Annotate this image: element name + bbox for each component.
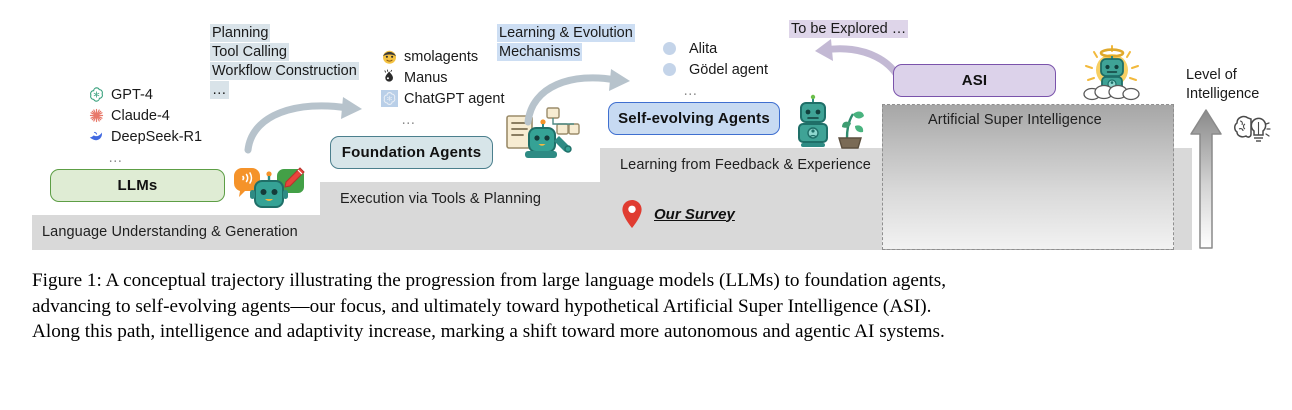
- stage-box-self-evolving-agents[interactable]: Self-evolving Agents: [608, 102, 780, 135]
- model-name: smolagents: [404, 49, 478, 65]
- band-label-llm: Language Understanding & Generation: [42, 224, 298, 240]
- figure-conceptual-trajectory: Language Understanding & Generation Exec…: [0, 0, 1292, 410]
- band-label-selfevolving: Learning from Feedback & Experience: [620, 157, 871, 173]
- capability-label: Workflow Construction: [210, 62, 359, 80]
- model-name: ChatGPT agent: [404, 91, 505, 107]
- list-item: smolagents: [381, 46, 505, 67]
- foundation-model-list: smolagents Manus: [381, 46, 505, 130]
- list-item: Claude-4: [88, 105, 202, 126]
- map-pin-icon: [622, 200, 642, 228]
- stage-box-asi[interactable]: ASI: [893, 64, 1056, 97]
- band-label-foundation: Execution via Tools & Planning: [340, 191, 541, 207]
- capability-label: Mechanisms: [497, 43, 582, 61]
- model-name: Alita: [682, 41, 717, 57]
- model-name: Gödel agent: [682, 62, 768, 78]
- robot-plant-icon: [795, 92, 865, 150]
- claude-asterisk-icon: [88, 107, 105, 124]
- ellipsis: …: [381, 112, 417, 128]
- level-label-line1: Level of: [1186, 66, 1259, 85]
- caption-line: advancing to self-evolving agents—our fo…: [32, 294, 1262, 320]
- list-item: Alita: [663, 38, 768, 59]
- caption-line: Figure 1: A conceptual trajectory illust…: [32, 268, 1262, 294]
- model-name: GPT-4: [111, 87, 153, 103]
- smolagents-emoji-icon: [381, 48, 398, 65]
- bullet-dot-icon: [663, 42, 676, 55]
- selfevolving-model-list: Alita Gödel agent …: [663, 38, 768, 101]
- llm-model-list: GPT-4 Claude-4: [88, 84, 202, 168]
- list-item: GPT-4: [88, 84, 202, 105]
- model-name: DeepSeek-R1: [111, 129, 202, 145]
- capability-label: Planning: [210, 24, 270, 42]
- list-item: DeepSeek-R1: [88, 126, 202, 147]
- band-label-asi: Artificial Super Intelligence: [928, 112, 1102, 128]
- list-item: Gödel agent: [663, 59, 768, 80]
- up-arrow-icon: [1189, 108, 1223, 250]
- openai-icon: [381, 90, 398, 107]
- figure-caption: Figure 1: A conceptual trajectory illust…: [32, 268, 1262, 345]
- caption-line: Along this path, intelligence and adapti…: [32, 319, 1262, 345]
- level-of-intelligence-label: Level of Intelligence: [1186, 66, 1259, 104]
- ellipsis: …: [88, 150, 124, 166]
- list-item: ChatGPT agent: [381, 88, 505, 109]
- ellipsis: …: [663, 83, 699, 99]
- enlightened-robot-icon: [1076, 44, 1148, 106]
- manus-ink-icon: [381, 69, 398, 86]
- list-item: Manus: [381, 67, 505, 88]
- brain-lightbulb-icon: [1232, 112, 1272, 146]
- model-name: Claude-4: [111, 108, 170, 124]
- openai-icon: [88, 86, 105, 103]
- our-survey-marker[interactable]: Our Survey: [622, 200, 735, 228]
- annot-selfevolving-capabilities: Learning & Evolution Mechanisms: [497, 24, 635, 62]
- chat-robot-icon: [232, 164, 306, 218]
- bullet-dot-icon: [663, 63, 676, 76]
- list-item: …: [663, 80, 768, 101]
- level-label-line2: Intelligence: [1186, 85, 1259, 104]
- capability-label: …: [210, 81, 229, 99]
- list-item: …: [88, 147, 202, 168]
- annot-foundation-capabilities: Planning Tool Calling Workflow Construct…: [210, 24, 359, 100]
- capability-label: Learning & Evolution: [497, 24, 635, 42]
- stage-box-llms[interactable]: LLMs: [50, 169, 225, 202]
- capability-label: Tool Calling: [210, 43, 289, 61]
- our-survey-label[interactable]: Our Survey: [654, 206, 735, 223]
- model-name: Manus: [404, 70, 448, 86]
- stage-box-foundation-agents[interactable]: Foundation Agents: [330, 136, 493, 169]
- list-item: …: [381, 109, 505, 130]
- deepseek-whale-icon: [88, 128, 105, 145]
